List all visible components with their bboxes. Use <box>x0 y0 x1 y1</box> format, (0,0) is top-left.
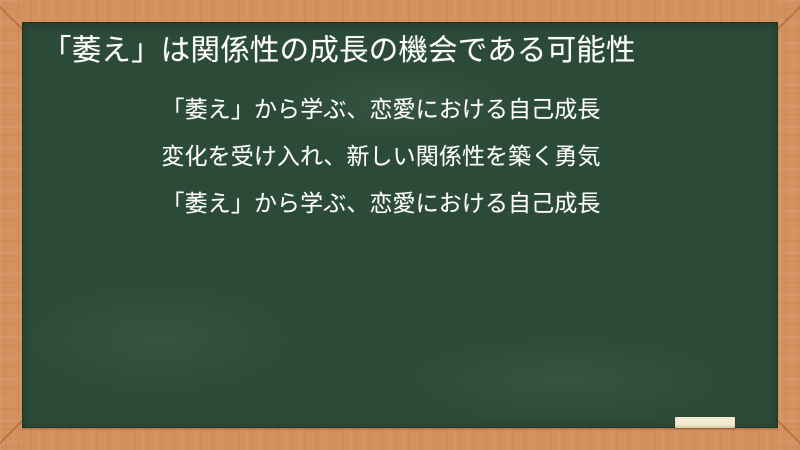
chalkboard-surface: 「萎え」は関係性の成長の機会である可能性 「萎え」から学ぶ、恋愛における自己成長… <box>22 22 778 428</box>
frame-grain-right <box>778 0 800 450</box>
blackboard-frame: 「萎え」は関係性の成長の機会である可能性 「萎え」から学ぶ、恋愛における自己成長… <box>0 0 800 450</box>
slide-title: 「萎え」は関係性の成長の機会である可能性 <box>42 31 760 71</box>
list-item: 変化を受け入れ、新しい関係性を築く勇気 <box>42 146 760 169</box>
frame-grain-left <box>0 0 22 450</box>
bullet-list: 「萎え」から学ぶ、恋愛における自己成長 変化を受け入れ、新しい関係性を築く勇気 … <box>42 99 760 216</box>
list-item: 「萎え」から学ぶ、恋愛における自己成長 <box>42 99 760 122</box>
board-content: 「萎え」は関係性の成長の機会である可能性 「萎え」から学ぶ、恋愛における自己成長… <box>22 22 778 428</box>
chalk-stick-icon <box>675 417 735 428</box>
list-item: 「萎え」から学ぶ、恋愛における自己成長 <box>42 193 760 216</box>
board-ledge-shadow <box>22 428 778 431</box>
